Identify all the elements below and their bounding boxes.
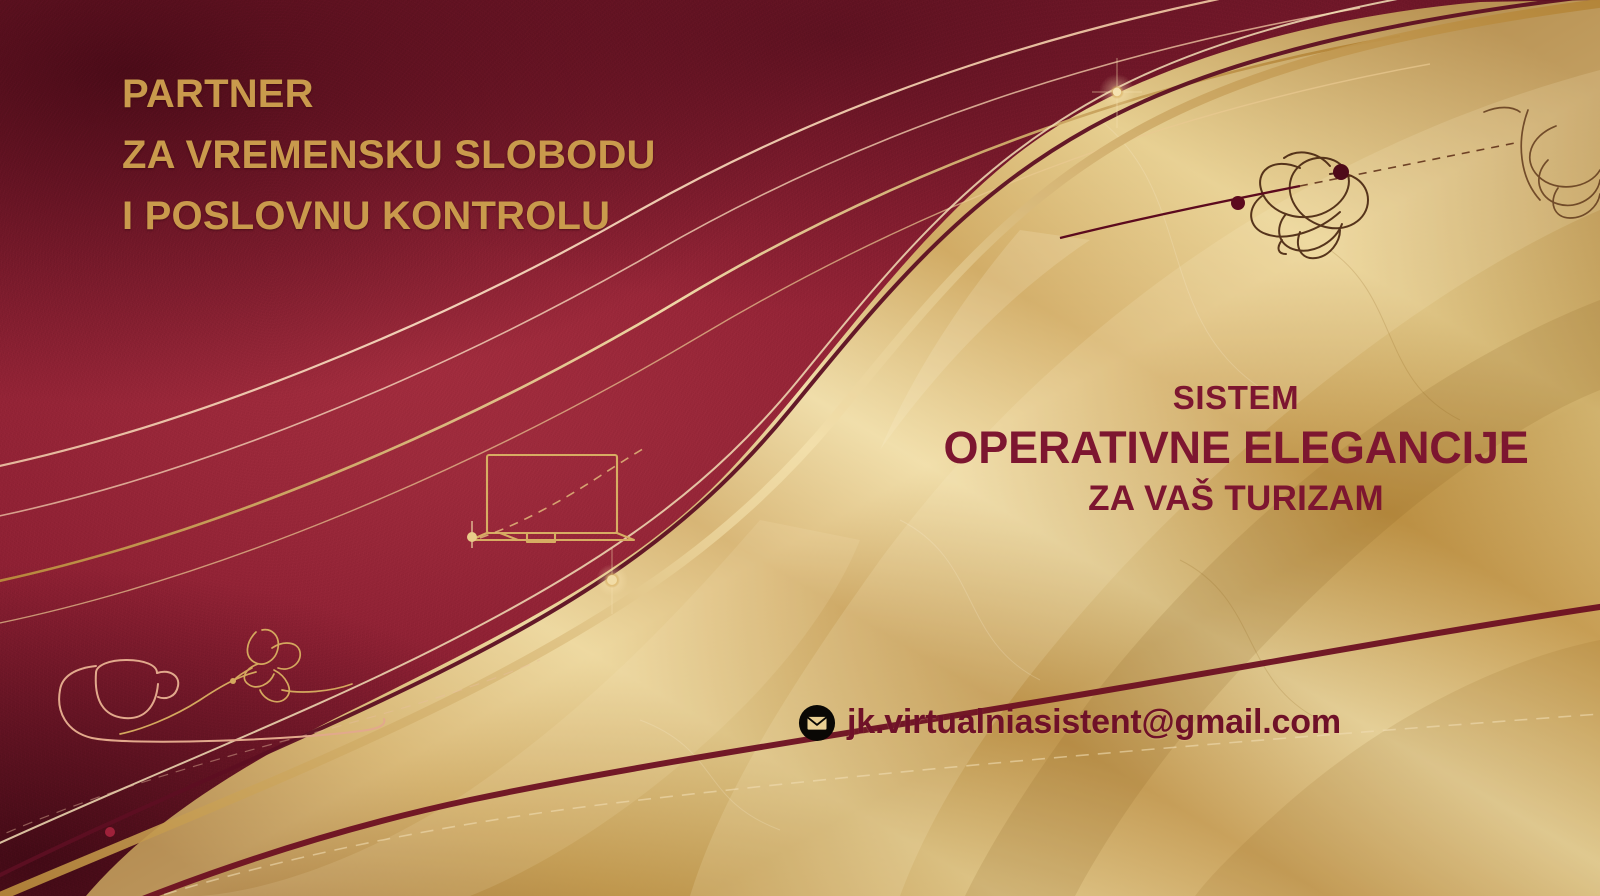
- headline-line-1: PARTNER: [122, 64, 882, 125]
- banner-canvas: PARTNER ZA VREMENSKU SLOBODU I POSLOVNU …: [0, 0, 1600, 896]
- envelope-icon: [798, 704, 836, 742]
- headline-line-2: ZA VREMENSKU SLOBODU: [122, 125, 882, 186]
- laptop-dashed-line: [480, 446, 648, 538]
- dot-dark-red-2: [1333, 164, 1349, 180]
- tagline-line-1: SISTEM: [916, 378, 1556, 418]
- butterfly-icon: [120, 630, 352, 734]
- tagline-line-2: OPERATIVNE ELEGANCIJE: [916, 421, 1556, 476]
- tagline-block: SISTEM OPERATIVNE ELEGANCIJE ZA VAŠ TURI…: [916, 378, 1556, 521]
- laptop-accent-dot: [467, 532, 477, 542]
- dot-red-left: [105, 827, 115, 837]
- email-address[interactable]: jk.virtualniasistent@gmail.com: [847, 703, 1341, 742]
- contact-email[interactable]: jk.virtualniasistent@gmail.com: [798, 703, 1341, 742]
- headline-line-3: I POSLOVNU KONTROLU: [122, 186, 882, 247]
- headline: PARTNER ZA VREMENSKU SLOBODU I POSLOVNU …: [122, 64, 882, 246]
- tagline-line-3: ZA VAŠ TURIZAM: [916, 478, 1556, 521]
- dot-dark-red-1: [1231, 196, 1245, 210]
